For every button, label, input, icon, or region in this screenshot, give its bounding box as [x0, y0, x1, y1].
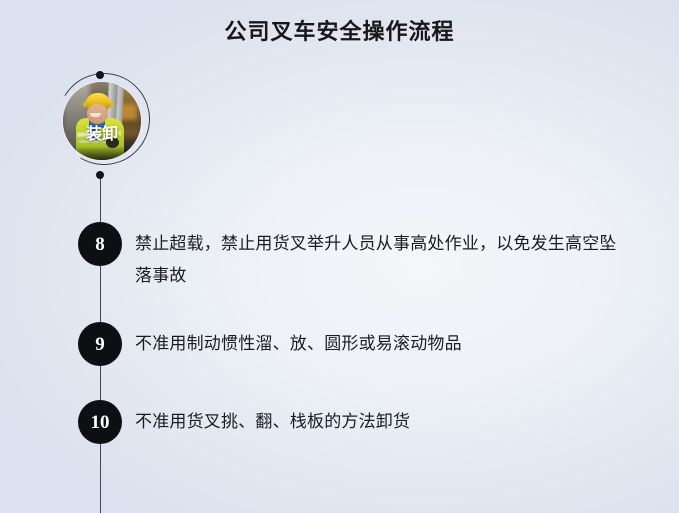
header-node[interactable]: 装卸 — [53, 68, 149, 178]
step-text: 禁止超载，禁止用货叉举升人员从事高处作业，以免发生高空坠落事故 — [135, 228, 620, 292]
page-title: 公司叉车安全操作流程 — [0, 17, 679, 47]
header-photo: 装卸 — [63, 82, 141, 160]
step-number-badge: 8 — [78, 222, 122, 266]
header-node-label: 装卸 — [63, 120, 141, 144]
step-text: 不准用货叉挑、翻、栈板的方法卸货 — [135, 406, 635, 438]
slide-canvas: 公司叉车安全操作流程 — [0, 0, 679, 513]
step-text: 不准用制动惯性溜、放、圆形或易滚动物品 — [135, 328, 635, 360]
ring-dot-top-icon — [96, 71, 104, 79]
ring-dot-bottom-icon — [96, 171, 104, 179]
step-number-badge: 9 — [78, 322, 122, 366]
step-number-badge: 10 — [78, 400, 122, 444]
